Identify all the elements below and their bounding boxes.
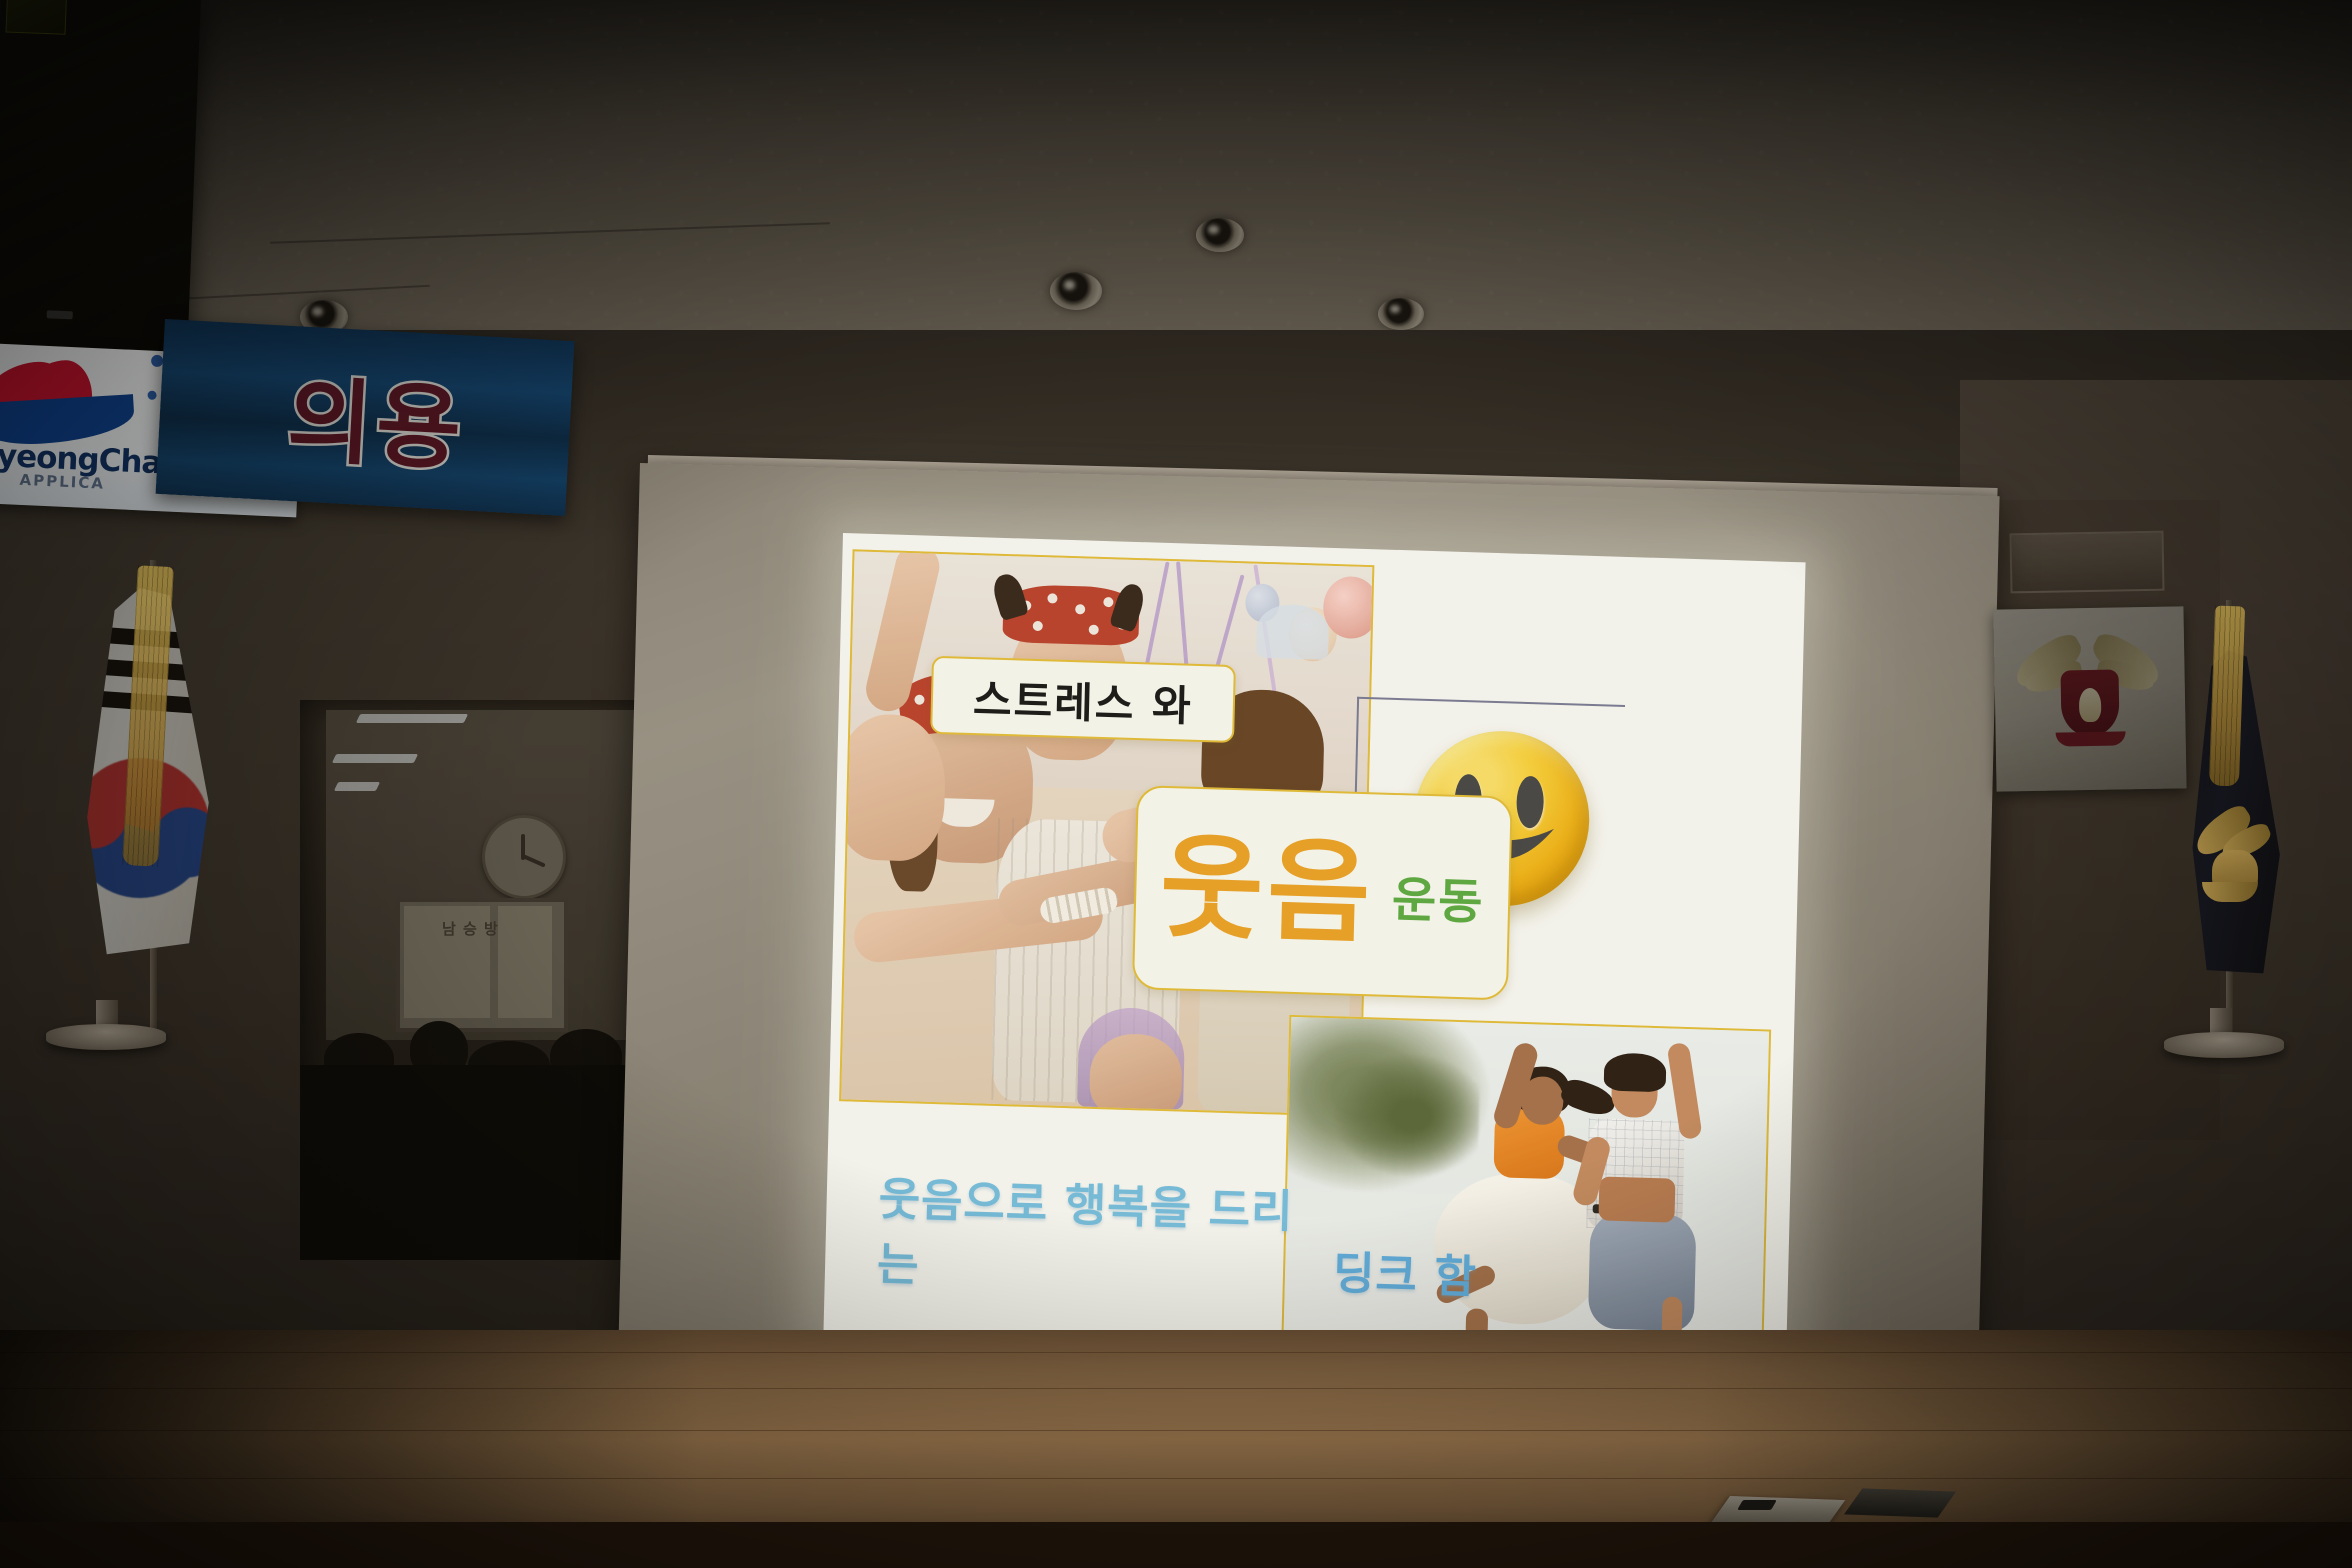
stage-front-edge <box>0 1522 2352 1568</box>
recessed-downlight <box>1050 272 1102 310</box>
tagline-line-1: 웃음으로 행복을 드리는 <box>876 1162 1319 1305</box>
ceiling-air-vent <box>2009 531 2164 594</box>
pyeongchang-subtitle: APPLICA <box>19 471 105 493</box>
flag-stand-base <box>2164 1032 2284 1058</box>
recessed-downlight <box>1196 218 1244 252</box>
fluorescent-light <box>334 782 380 791</box>
winged-emblem-banner <box>1993 606 2186 791</box>
laughter-word: 웃음 <box>1159 835 1376 948</box>
recessed-downlight <box>1378 298 1424 330</box>
projection-screen-assembly: 스트레스 와 웃음 운동 웃음으로 행복을 드리는 딩크 함 <box>640 455 2020 1445</box>
wall-mounted-display <box>0 0 201 368</box>
tagline-line-2: 딩크 함 <box>1332 1236 1477 1305</box>
projected-slide: 스트레스 와 웃음 운동 웃음으로 행복을 드리는 딩크 함 <box>823 533 1805 1362</box>
snowflake-icon <box>147 391 156 400</box>
unit-emblem <box>2194 810 2280 920</box>
stress-callout-text: 스트레스 와 <box>972 666 1193 734</box>
wall-clock <box>482 815 566 899</box>
display-brand-logo <box>47 310 73 319</box>
stress-callout: 스트레스 와 <box>930 656 1236 743</box>
party-hat <box>1256 604 1329 660</box>
flag-stand-base <box>46 1024 166 1050</box>
person-head <box>839 713 946 862</box>
floor-vent-panel <box>1844 1488 1956 1517</box>
exercise-word: 운동 <box>1391 860 1485 933</box>
display-sticker <box>6 0 68 35</box>
laughter-exercise-callout: 웃음 운동 <box>1132 785 1513 1000</box>
winged-emblem <box>2018 635 2162 759</box>
floor-cable-cover <box>1737 1500 1777 1510</box>
door-sign-label: 남 승 방 <box>442 918 499 939</box>
tree-foliage <box>1327 1048 1480 1183</box>
fluorescent-light <box>332 754 418 763</box>
blue-wall-banner: 의용 <box>156 319 575 516</box>
flag-tassel <box>2209 606 2245 787</box>
blue-banner-text: 의용 <box>285 346 469 488</box>
auditorium-scene: 남 승 방 PyeongChang 2018 APPLICA 의용 <box>0 0 2352 1568</box>
fluorescent-light <box>356 714 468 723</box>
